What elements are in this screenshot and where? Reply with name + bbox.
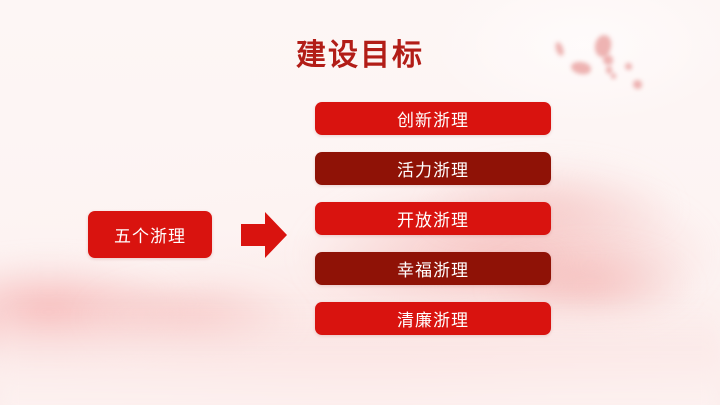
right-arrow-icon [241,211,287,259]
goal-box-2[interactable]: 活力浙理 [315,152,551,185]
goal-box-1-label: 创新浙理 [397,106,469,131]
goal-box-2-label: 活力浙理 [397,156,469,181]
goal-box-1[interactable]: 创新浙理 [315,102,551,135]
page-title: 建设目标 [0,38,720,74]
goal-box-5[interactable]: 清廉浙理 [315,302,551,335]
slide-canvas: 建设目标 五个浙理 创新浙理 活力浙理 开放浙理 幸福浙理 清廉浙理 [0,0,720,405]
goal-box-4[interactable]: 幸福浙理 [315,252,551,285]
goal-box-5-label: 清廉浙理 [397,306,469,331]
bird-fleck-icon [633,80,642,89]
goal-box-4-label: 幸福浙理 [397,256,469,281]
source-box-five-principles[interactable]: 五个浙理 [88,211,212,258]
source-box-label: 五个浙理 [114,222,186,247]
goal-box-3[interactable]: 开放浙理 [315,202,551,235]
goal-box-3-label: 开放浙理 [397,206,469,231]
